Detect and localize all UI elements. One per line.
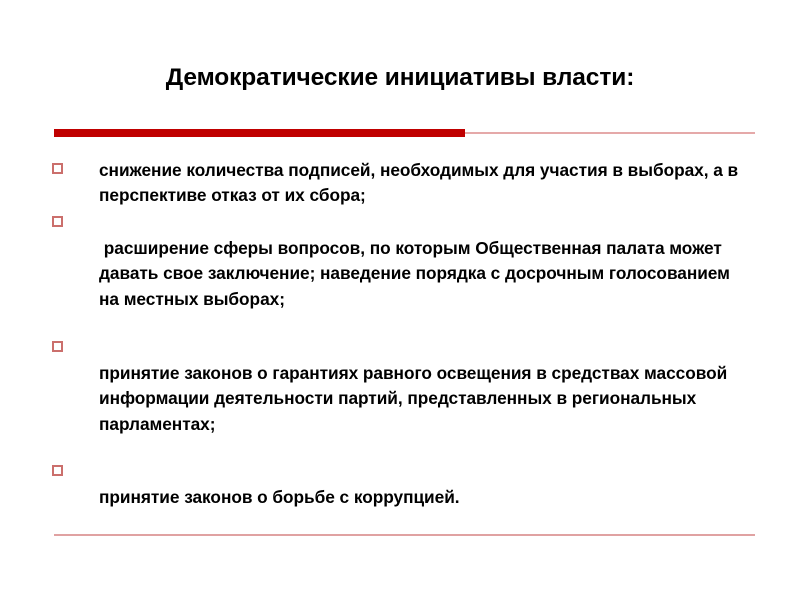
list-item-text: принятие законов о борьбе с коррупцией. (99, 460, 752, 510)
list-item-text: принятие законов о гарантиях равного осв… (99, 336, 752, 437)
list-item: принятие законов о борьбе с коррупцией. (52, 460, 752, 510)
slide-canvas: Демократические инициативы власти: сниже… (0, 0, 800, 600)
list-item-text: расширение сферы вопросов, по которым Об… (99, 211, 752, 312)
empty-square-bullet-icon (52, 341, 63, 352)
bottom-divider (54, 534, 755, 536)
empty-square-bullet-icon (52, 216, 63, 227)
empty-square-bullet-icon (52, 465, 63, 476)
empty-square-bullet-icon (52, 163, 63, 174)
bullet-list: снижение количества подписей, необходимы… (0, 0, 800, 600)
list-item: принятие законов о гарантиях равного осв… (52, 336, 752, 437)
list-item: расширение сферы вопросов, по которым Об… (52, 211, 752, 312)
list-item: снижение количества подписей, необходимы… (52, 158, 752, 208)
list-item-text: снижение количества подписей, необходимы… (99, 158, 752, 208)
